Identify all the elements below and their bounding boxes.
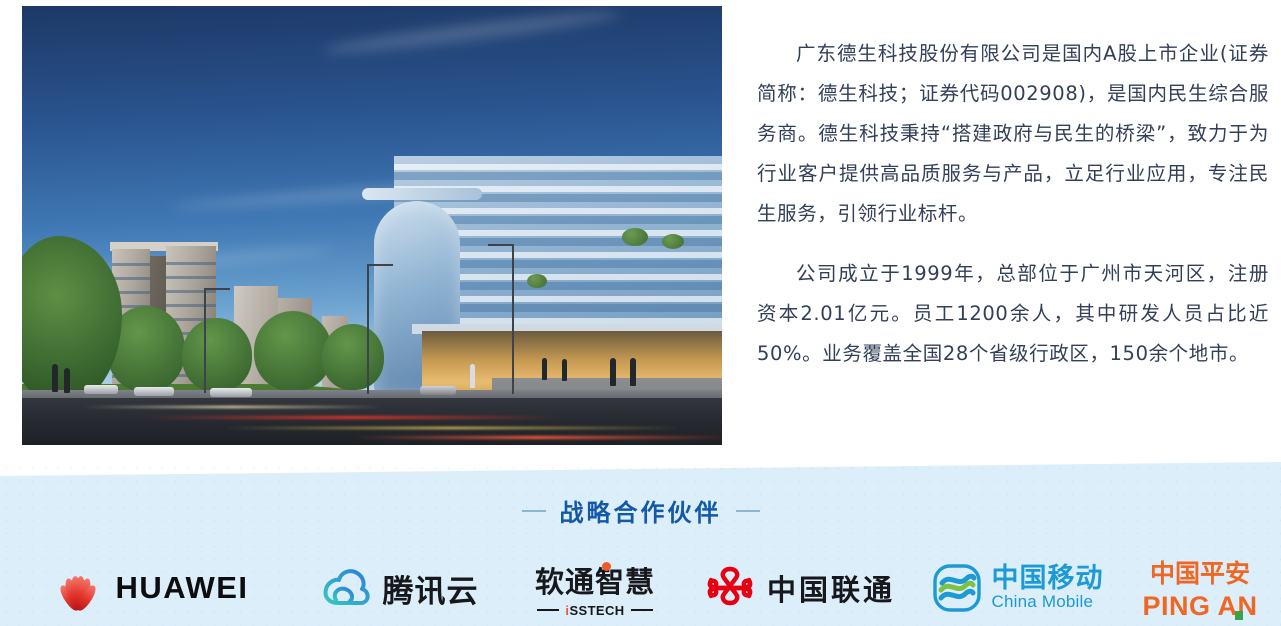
building-canopy <box>362 188 482 200</box>
partners-heading: 战略合作伙伴 <box>0 493 1281 528</box>
pedestrian <box>542 358 547 380</box>
partner-logo-huawei[interactable]: HUAWEI <box>0 550 300 626</box>
pedestrian <box>562 359 567 381</box>
china-mobile-wordmark: 中国移动 China Mobile <box>992 565 1104 611</box>
pingan-green-accent-icon <box>1235 611 1243 620</box>
china-mobile-en: China Mobile <box>992 593 1104 611</box>
heading-rule-left <box>522 510 546 512</box>
partner-logo-china-mobile[interactable]: 中国移动 China Mobile <box>910 550 1125 626</box>
car <box>134 387 174 396</box>
street-tree <box>322 324 384 390</box>
unicom-knot-icon <box>705 563 755 613</box>
light-trail <box>82 406 382 408</box>
about-section: 广东德生科技股份有限公司是国内A股上市企业(证券简称：德生科技；证券代码0029… <box>0 0 1281 466</box>
street-lamp <box>512 244 514 394</box>
isstech-wordmark-cn: 软通智慧 <box>535 559 655 601</box>
huawei-flower-icon <box>52 564 104 612</box>
partners-title: 战略合作伙伴 <box>560 493 722 528</box>
car <box>420 386 456 395</box>
huawei-wordmark: HUAWEI <box>116 570 249 606</box>
unicom-wordmark: 中国联通 <box>767 567 895 609</box>
street-lamp <box>204 288 206 393</box>
heading-rule-right <box>736 510 760 512</box>
about-paragraph-2: 公司成立于1999年，总部位于广州市天河区，注册资本2.01亿元。员工1200余… <box>757 254 1269 374</box>
pedestrian <box>52 364 58 392</box>
light-trail <box>142 416 562 419</box>
isstech-wordmark-en: iSSTECH <box>565 603 624 618</box>
partner-logo-tencent-cloud[interactable]: 腾讯云 <box>300 550 500 626</box>
rooftop-tree <box>662 234 684 249</box>
china-mobile-cn: 中国移动 <box>992 565 1104 593</box>
pedestrian <box>610 358 616 386</box>
pedestrian <box>630 358 636 386</box>
rooftop-tree <box>527 274 547 288</box>
tencent-cloud-icon <box>322 567 372 609</box>
isstech-subline: iSSTECH <box>537 603 652 618</box>
partner-logo-pingan[interactable]: 中国平安 PING AN <box>1125 550 1275 626</box>
partner-logo-row: HUAWEI 腾讯云 软通智慧 <box>0 550 1281 626</box>
company-building-image <box>22 6 722 445</box>
light-trail <box>222 427 682 429</box>
about-paragraph-1: 广东德生科技股份有限公司是国内A股上市企业(证券简称：德生科技；证券代码0029… <box>757 34 1269 234</box>
isstech-cn-text: 软通智慧 <box>535 565 655 599</box>
partner-logo-isstech[interactable]: 软通智慧 iSSTECH <box>500 550 690 626</box>
light-trail <box>352 436 722 439</box>
rule-left <box>537 609 559 611</box>
car <box>210 388 252 397</box>
pingan-wordmark-cn: 中国平安 <box>1150 554 1250 590</box>
china-mobile-icon <box>932 563 982 613</box>
pingan-wordmark-en: PING AN <box>1142 591 1257 622</box>
car <box>84 385 118 394</box>
street-tree <box>182 318 252 392</box>
pedestrian <box>64 368 70 393</box>
tencent-wordmark: 腾讯云 <box>383 566 479 611</box>
street-tree <box>254 311 332 391</box>
street-lamp <box>367 264 369 394</box>
strategic-partners-section: 战略合作伙伴 HUAWEI <box>0 462 1281 626</box>
isstech-dot-icon <box>602 562 611 571</box>
pedestrian <box>470 364 475 388</box>
rooftop-tree <box>622 228 648 246</box>
rule-right <box>631 609 653 611</box>
partner-logo-china-unicom[interactable]: 中国联通 <box>690 550 910 626</box>
company-description: 广东德生科技股份有限公司是国内A股上市企业(证券简称：德生科技；证券代码0029… <box>757 34 1269 374</box>
